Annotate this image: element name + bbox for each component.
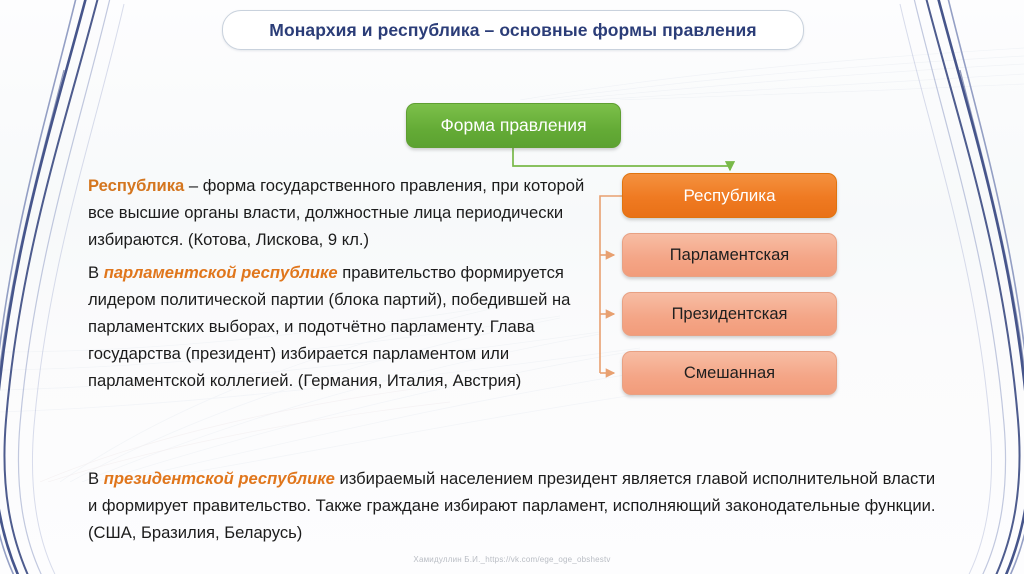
node-mixed-republic-label: Смешанная [684, 364, 775, 383]
slide-title-pill: Монархия и республика – основные формы п… [222, 10, 804, 50]
keyword-presidential-republic: президентской республике [104, 469, 335, 488]
node-parliamentary-republic-label: Парламентская [670, 246, 789, 265]
paragraph-presidential-lead: В [88, 469, 104, 488]
keyword-republic: Республика [88, 176, 184, 195]
node-parliamentary-republic[interactable]: Парламентская [622, 233, 837, 277]
definition-text-column: Республика – форма государственного прав… [88, 172, 588, 400]
presidential-republic-text-block: В президентской республике избираемый на… [88, 465, 948, 546]
node-form-of-government[interactable]: Форма правления [406, 103, 621, 148]
paragraph-parliamentary-republic: В парламентской республике правительство… [88, 259, 588, 394]
page-title: Монархия и республика – основные формы п… [269, 20, 756, 41]
node-presidential-republic-label: Президентская [672, 305, 788, 324]
node-republic[interactable]: Республика [622, 173, 837, 218]
footer-attribution: Хамидуллин Б.И._https://vk.com/ege_oge_o… [0, 555, 1024, 564]
node-presidential-republic[interactable]: Президентская [622, 292, 837, 336]
node-form-of-government-label: Форма правления [440, 115, 586, 136]
slide-canvas: Монархия и республика – основные формы п… [0, 0, 1024, 574]
node-republic-label: Республика [683, 186, 775, 206]
node-mixed-republic[interactable]: Смешанная [622, 351, 837, 395]
paragraph-presidential-republic: В президентской республике избираемый на… [88, 465, 948, 546]
paragraph-parliamentary-rest: правительство формируется лидером полити… [88, 263, 570, 390]
paragraph-republic-definition: Республика – форма государственного прав… [88, 172, 588, 253]
paragraph-parliamentary-lead: В [88, 263, 104, 282]
keyword-parliamentary-republic: парламентской республике [104, 263, 338, 282]
